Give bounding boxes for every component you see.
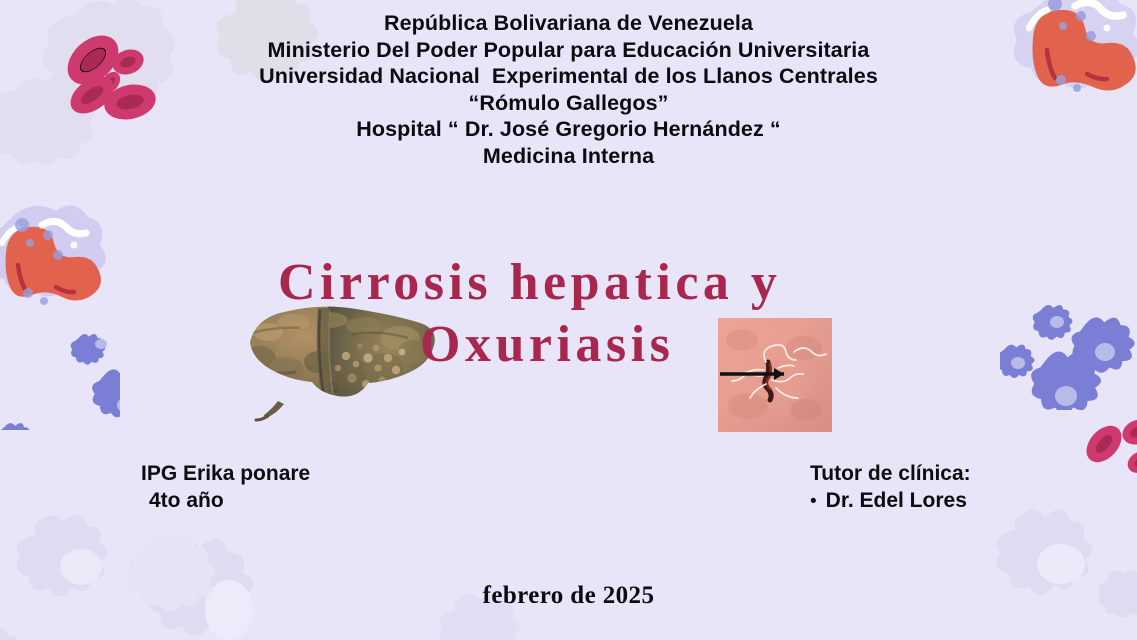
tutor-name-row: • Dr. Edel Lores	[810, 487, 971, 515]
tutor-name: Dr. Edel Lores	[826, 487, 967, 514]
author-year: 4to año	[141, 487, 310, 514]
bullet-icon: •	[810, 488, 817, 515]
bacterium-left-icon	[0, 195, 130, 330]
header-line-6: Medicina Interna	[0, 143, 1137, 170]
author-credit: IPG Erika ponare 4to año	[141, 460, 310, 514]
virus-cluster-left-icon	[0, 325, 120, 430]
header-line-2: Ministerio Del Poder Popular para Educac…	[0, 37, 1137, 64]
virus-ghosts-bottom-right-icon	[965, 500, 1137, 640]
presentation-slide: República Bolivariana de Venezuela Minis…	[0, 0, 1137, 640]
author-name: IPG Erika ponare	[141, 460, 310, 487]
tutor-heading: Tutor de clínica:	[810, 460, 971, 487]
header-line-3: Universidad Nacional Experimental de los…	[0, 63, 1137, 90]
tutor-credit: Tutor de clínica: • Dr. Edel Lores	[810, 460, 971, 515]
institutional-header: República Bolivariana de Venezuela Minis…	[0, 10, 1137, 169]
header-line-4: “Rómulo Gallegos”	[0, 90, 1137, 117]
cirrhotic-liver-image	[232, 300, 440, 422]
title-line-2: Oxuriasis	[0, 314, 1137, 376]
virus-ghosts-bottom-left-icon	[0, 505, 275, 640]
header-line-5: Hospital “ Dr. José Gregorio Hernández “	[0, 116, 1137, 143]
slide-title: Cirrosis hepatica y Oxuriasis	[0, 252, 1137, 376]
red-blood-cells-right-icon	[1082, 418, 1137, 528]
virus-cluster-right-icon	[1000, 300, 1137, 410]
pinworm-perianal-image	[718, 318, 832, 432]
date-footer: febrero de 2025	[0, 582, 1137, 610]
title-line-1: Cirrosis hepatica y	[0, 252, 1137, 314]
date-text: febrero de 2025	[483, 582, 655, 609]
header-line-1: República Bolivariana de Venezuela	[0, 10, 1137, 37]
